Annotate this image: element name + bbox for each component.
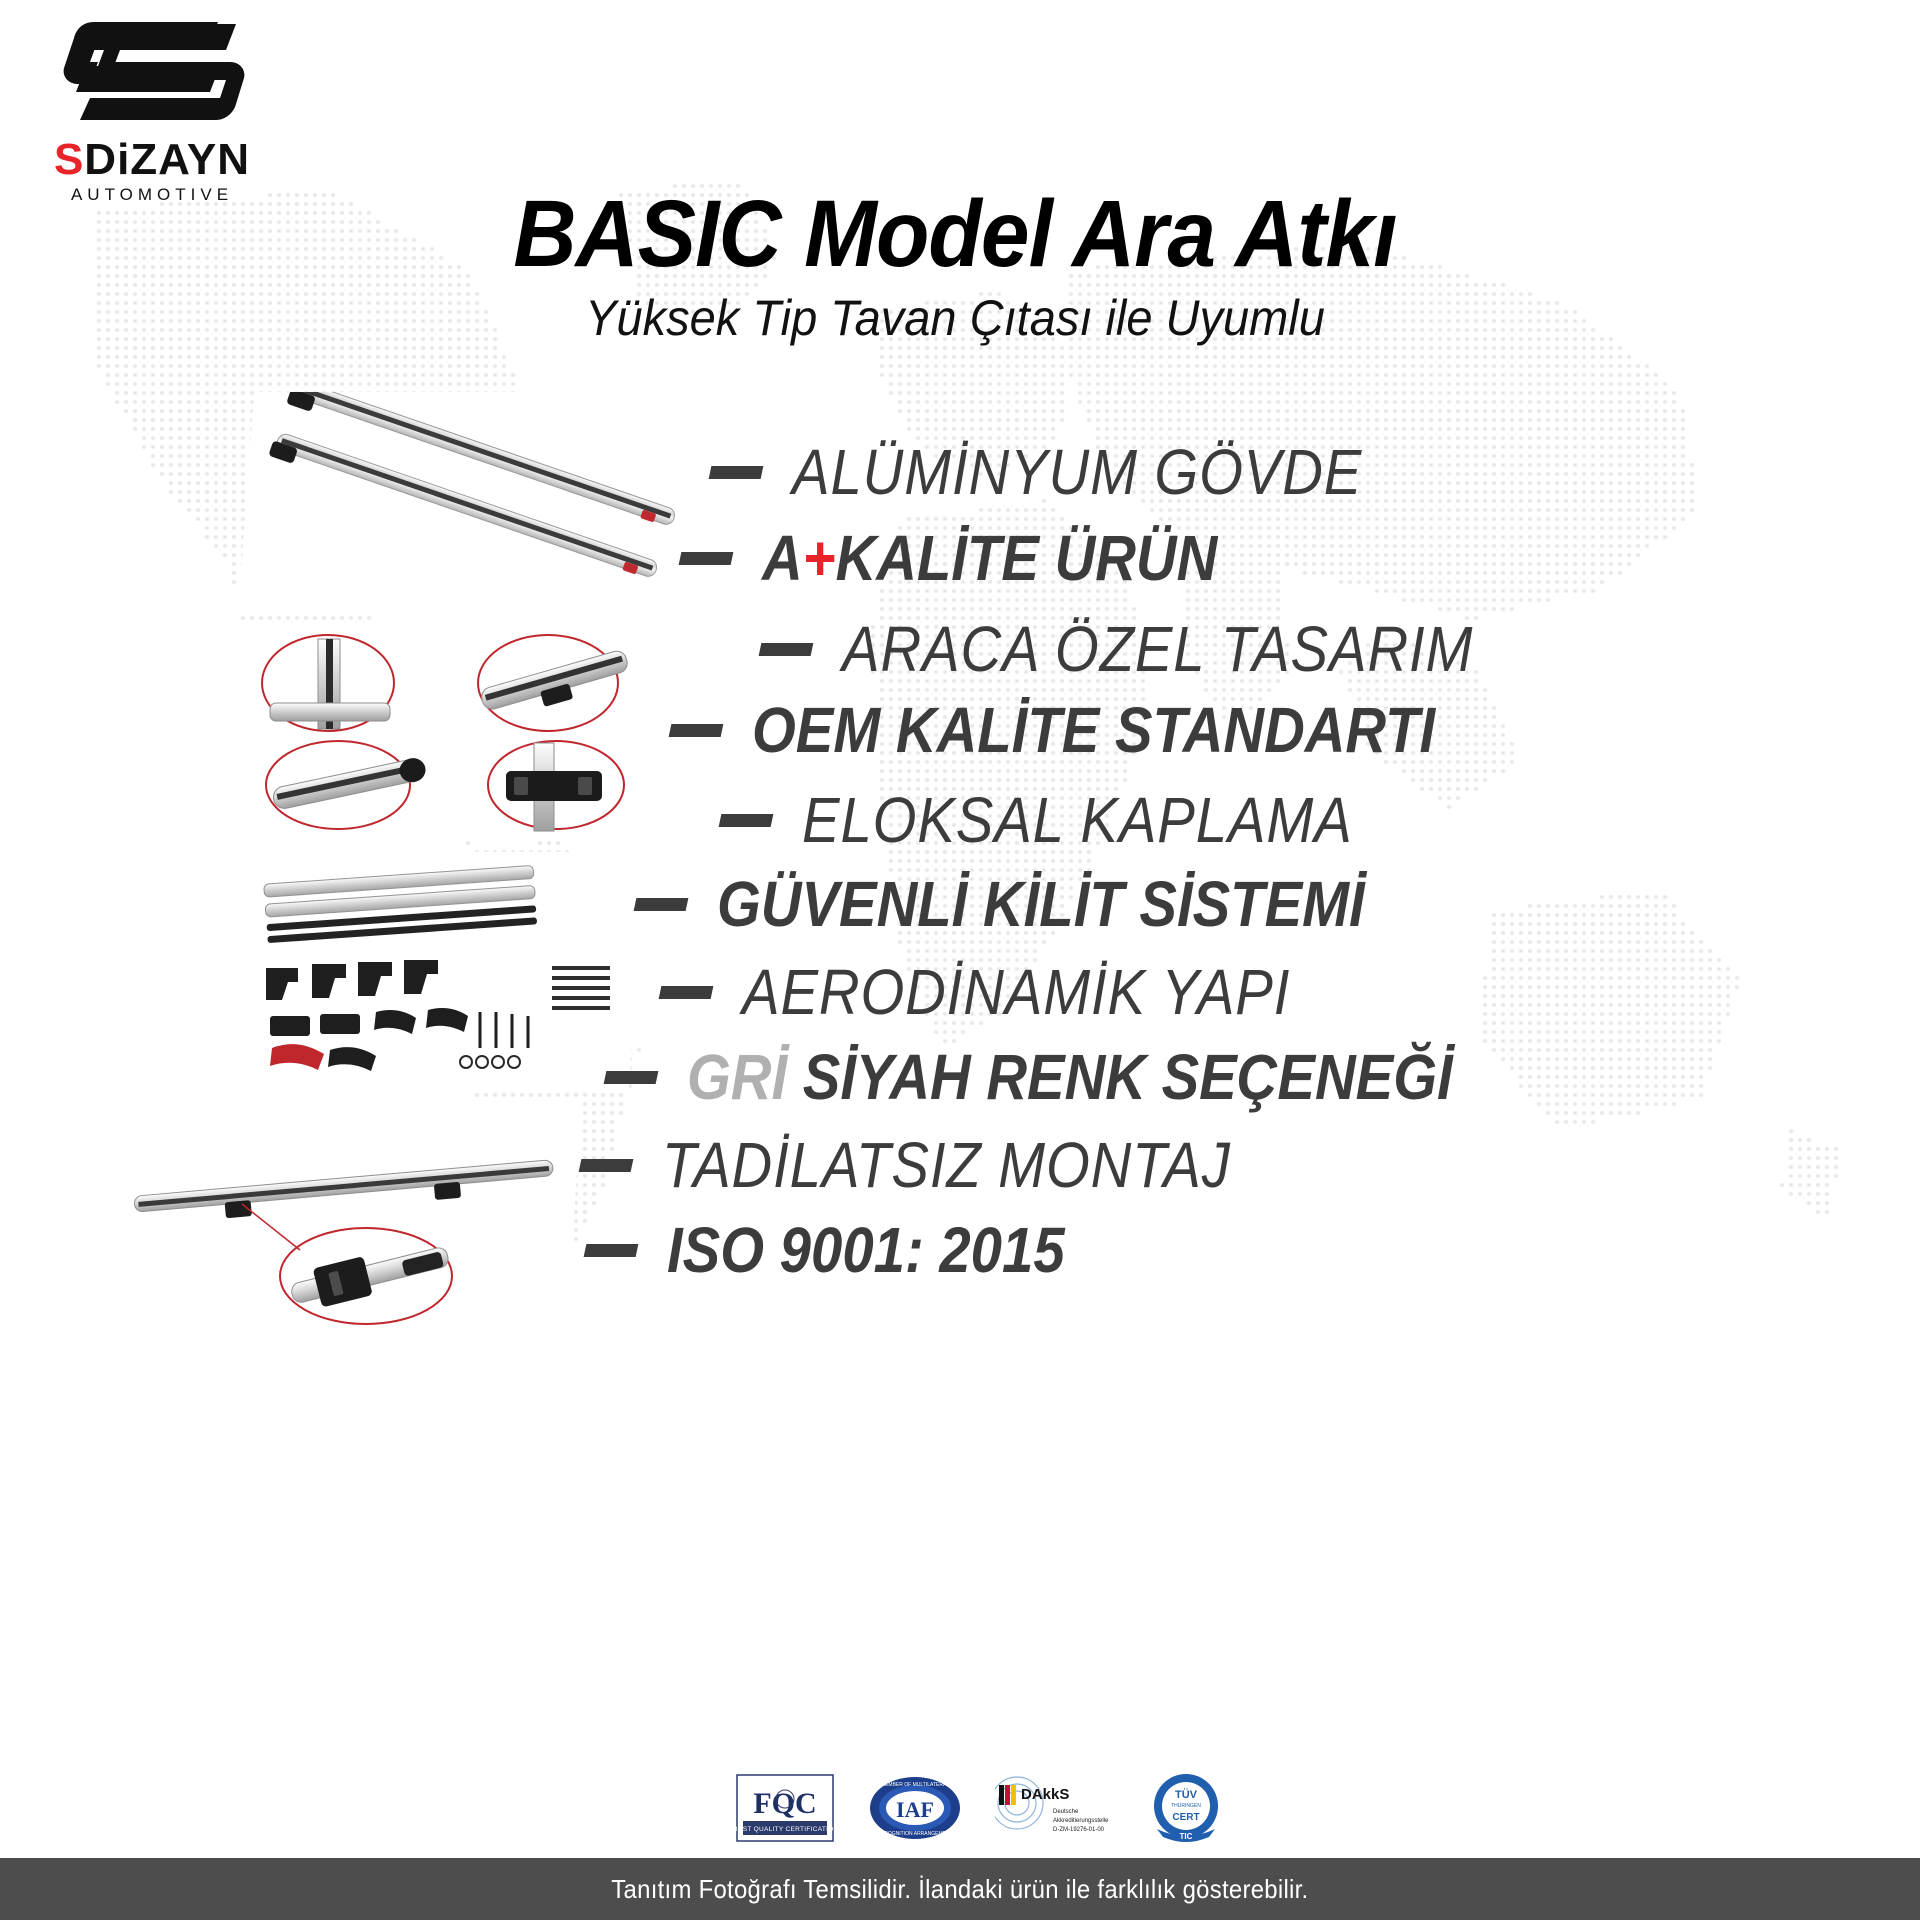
- svg-text:THÜRINGEN: THÜRINGEN: [1171, 1802, 1201, 1809]
- svg-text:FIRST QUALITY CERTIFICATION: FIRST QUALITY CERTIFICATION: [735, 1826, 835, 1833]
- panel-mounted-on-rail: [104, 1100, 582, 1340]
- mounted-on-rail-illustration: [104, 1100, 582, 1340]
- brand-wordmark: SDiZAYN AUTOMOTIVE: [22, 138, 282, 203]
- feature-item: GRİ SİYAH RENK SEÇENEĞİ: [605, 1045, 1557, 1109]
- panel-detail-closeups: [218, 625, 683, 840]
- svg-text:D-ZM-19276-01-00: D-ZM-19276-01-00: [1053, 1827, 1105, 1833]
- s-monogram-icon: [50, 18, 250, 128]
- certification-badges: FQC FIRST QUALITY CERTIFICATION IAF MEMB…: [735, 1768, 1225, 1848]
- dakks-badge: DAkkS Deutsche Akkreditierungsstelle D-Z…: [995, 1770, 1115, 1846]
- feature-accent-token: +: [803, 522, 836, 594]
- dash-bullet-icon: [679, 552, 734, 565]
- crossbars-pair-illustration: [238, 392, 703, 614]
- dash-bullet-icon: [759, 643, 814, 656]
- feature-item: ALÜMİNYUM GÖVDE: [710, 440, 1440, 504]
- dash-bullet-icon: [579, 1159, 634, 1172]
- footer-bar: Tanıtım Fotoğrafı Temsilidir. İlandaki ü…: [0, 1858, 1920, 1920]
- page-subtitle: Yüksek Tip Tavan Çıtası ile Uyumlu: [330, 289, 1580, 347]
- svg-text:DAkkS: DAkkS: [1021, 1786, 1069, 1803]
- feature-label: ISO 9001: 2015: [667, 1218, 1065, 1282]
- svg-text:MEMBER OF MULTILATERAL: MEMBER OF MULTILATERAL: [881, 1782, 949, 1788]
- wordmark-s: S: [54, 135, 84, 184]
- feature-item: ISO 9001: 2015: [585, 1218, 1119, 1282]
- svg-text:Akkreditierungsstelle: Akkreditierungsstelle: [1053, 1818, 1109, 1824]
- panel-crossbars-pair: [238, 392, 703, 614]
- footer-disclaimer: Tanıtım Fotoğrafı Temsilidir. İlandaki ü…: [611, 1874, 1308, 1905]
- dash-bullet-icon: [659, 986, 714, 999]
- dash-bullet-icon: [604, 1071, 659, 1084]
- dash-bullet-icon: [584, 1244, 639, 1257]
- wordmark-subtitle: AUTOMOTIVE: [22, 186, 282, 203]
- dash-bullet-icon: [634, 898, 689, 911]
- feature-label: GÜVENLİ KİLİT SİSTEMİ: [717, 872, 1365, 936]
- fqc-badge: FQC FIRST QUALITY CERTIFICATION: [735, 1770, 835, 1846]
- headline-block: BASIC Model Ara Atkı Yüksek Tip Tavan Çı…: [290, 185, 1620, 347]
- feature-item: A+KALİTE ÜRÜN: [680, 526, 1279, 590]
- svg-text:Deutsche: Deutsche: [1053, 1809, 1079, 1815]
- feature-label: AERODİNAMİK YAPI: [742, 960, 1290, 1024]
- iaf-badge: IAF MEMBER OF MULTILATERAL RECOGNITION A…: [867, 1770, 963, 1846]
- feature-label: TADİLATSIZ MONTAJ: [662, 1133, 1231, 1197]
- parts-kit-illustration: [180, 852, 645, 1090]
- svg-text:TÜV: TÜV: [1175, 1788, 1198, 1801]
- detail-closeups-illustration: [218, 625, 683, 840]
- dash-bullet-icon: [719, 814, 774, 827]
- dash-bullet-icon: [709, 466, 764, 479]
- page-title: BASIC Model Ara Atkı: [343, 185, 1567, 285]
- svg-text:RECOGNITION ARRANGEMENT: RECOGNITION ARRANGEMENT: [877, 1831, 952, 1837]
- feature-accent-token: GRİ: [687, 1041, 787, 1113]
- brand-logo: SDiZAYN AUTOMOTIVE: [22, 18, 282, 208]
- wordmark-name: DiZAYN: [84, 135, 250, 184]
- feature-item: TADİLATSIZ MONTAJ: [580, 1133, 1308, 1197]
- dash-bullet-icon: [669, 724, 724, 737]
- feature-label: ELOKSAL KAPLAMA: [802, 788, 1353, 852]
- svg-text:CERT: CERT: [1172, 1812, 1199, 1823]
- svg-text:TIC: TIC: [1180, 1832, 1193, 1841]
- panel-parts-kit: [180, 852, 645, 1090]
- feature-item: ARACA ÖZEL TASARIM: [760, 617, 1559, 681]
- feature-label: ALÜMİNYUM GÖVDE: [792, 440, 1362, 504]
- feature-label: OEM KALİTE STANDARTI: [752, 698, 1435, 762]
- feature-label: ARACA ÖZEL TASARIM: [842, 617, 1473, 681]
- tuv-badge: TÜV THÜRINGEN CERT TIC: [1147, 1770, 1225, 1846]
- feature-item: GÜVENLİ KİLİT SİSTEMİ: [635, 872, 1453, 936]
- feature-item: ELOKSAL KAPLAMA: [720, 788, 1428, 852]
- feature-label: A+KALİTE ÜRÜN: [762, 526, 1217, 590]
- svg-text:IAF: IAF: [896, 1797, 934, 1822]
- feature-item: OEM KALİTE STANDARTI: [670, 698, 1528, 762]
- svg-text:FQC: FQC: [753, 1787, 816, 1820]
- feature-label: GRİ SİYAH RENK SEÇENEĞİ: [687, 1045, 1453, 1109]
- feature-item: AERODİNAMİK YAPI: [660, 960, 1365, 1024]
